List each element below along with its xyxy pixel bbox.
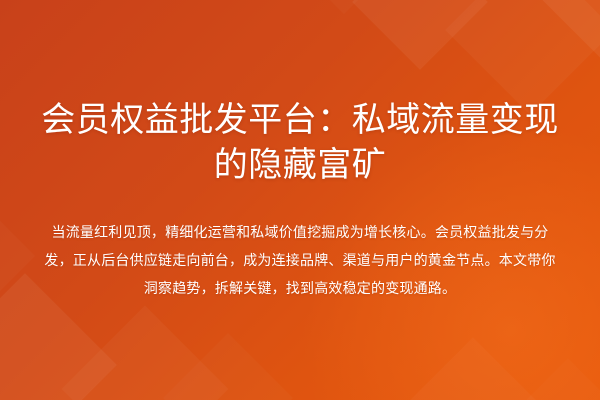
cover-text-block: 会员权益批发平台：私域流量变现的隐藏富矿 当流量红利见顶，精细化运营和私域价值挖… [0, 0, 600, 400]
cover-summary: 当流量红利见顶，精细化运营和私域价值挖掘成为增长核心。会员权益批发与分发，正从后… [40, 218, 560, 302]
article-cover-banner: 会员权益批发平台：私域流量变现的隐藏富矿 当流量红利见顶，精细化运营和私域价值挖… [0, 0, 600, 400]
cover-title: 会员权益批发平台：私域流量变现的隐藏富矿 [40, 98, 560, 188]
